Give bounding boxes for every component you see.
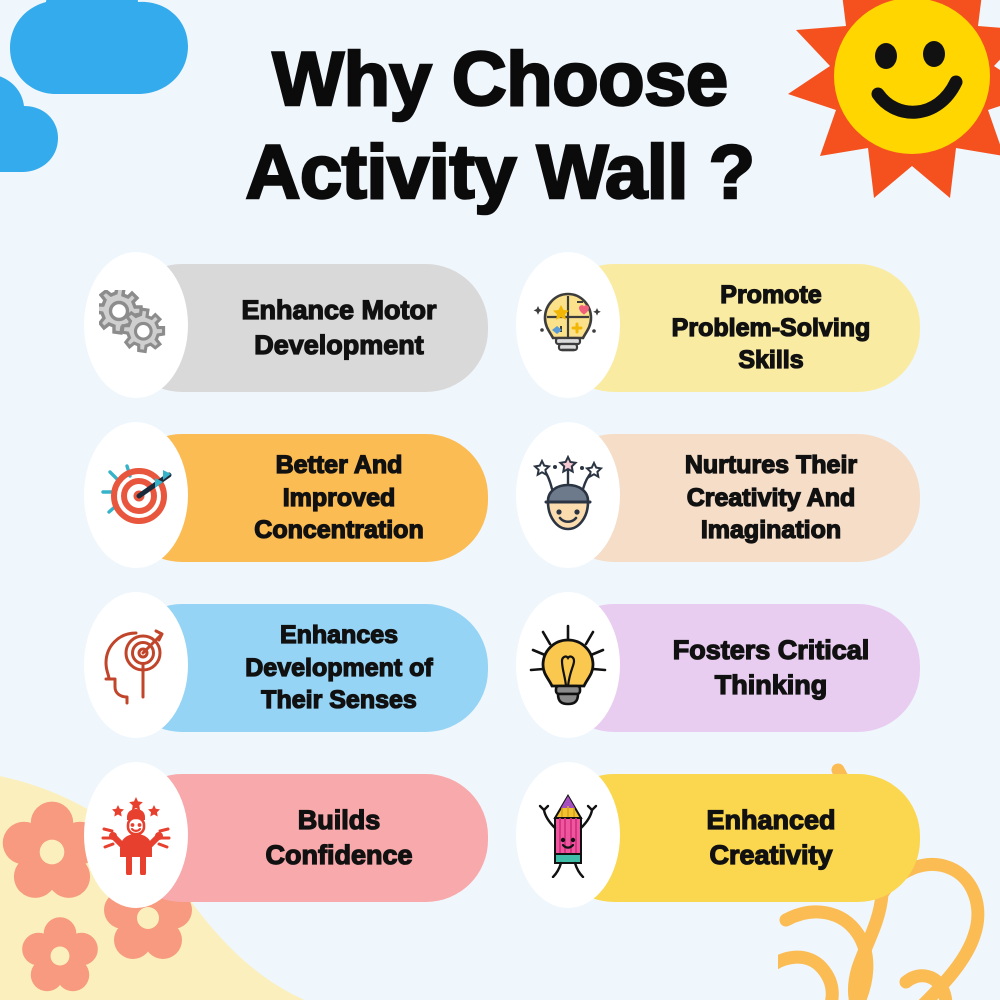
icon-badge <box>84 762 188 908</box>
head-stars-icon <box>528 455 608 535</box>
icon-badge <box>516 252 620 398</box>
benefit-label: Fosters Critical Thinking <box>673 633 870 703</box>
lightbulb-glow-icon <box>529 624 607 706</box>
head-target-icon <box>98 625 174 705</box>
lightbulb-puzzle-icon <box>531 286 605 364</box>
title-line-1: Why Choose <box>0 34 1000 127</box>
benefit-label: Better And Improved Concentration <box>254 449 423 547</box>
benefit-card-builds-confidence[interactable]: Builds Confidence <box>84 768 488 908</box>
benefit-label: Promote Problem-Solving Skills <box>672 279 871 377</box>
benefit-label: Builds Confidence <box>265 803 412 873</box>
benefit-label: Nurtures Their Creativity And Imaginatio… <box>685 449 857 547</box>
benefit-card-enhance-motor-development[interactable]: Enhance Motor Development <box>84 258 488 398</box>
benefit-card-enhanced-creativity[interactable]: Enhanced Creativity <box>516 768 920 908</box>
benefit-card-promote-problem-solving-skills[interactable]: Promote Problem-Solving Skills <box>516 258 920 398</box>
gears-icon <box>99 290 173 360</box>
icon-badge <box>516 592 620 738</box>
benefit-card-enhances-development-of-their-senses[interactable]: Enhances Development of Their Senses <box>84 598 488 738</box>
benefit-card-nurtures-their-creativity-and-imagination[interactable]: Nurtures Their Creativity And Imaginatio… <box>516 428 920 568</box>
target-arrow-icon <box>97 458 175 532</box>
icon-badge <box>516 422 620 568</box>
icon-badge <box>84 252 188 398</box>
pencil-character-icon <box>531 792 605 878</box>
benefit-label: Enhance Motor Development <box>241 293 436 363</box>
icon-badge <box>516 762 620 908</box>
benefit-label: Enhances Development of Their Senses <box>245 619 433 717</box>
benefit-card-grid: Enhance Motor Development <box>84 258 920 896</box>
icon-badge <box>84 422 188 568</box>
benefit-label: Enhanced Creativity <box>706 803 835 873</box>
benefit-card-better-and-improved-concentration[interactable]: Better And Improved Concentration <box>84 428 488 568</box>
confident-child-icon <box>96 795 176 875</box>
benefit-card-fosters-critical-thinking[interactable]: Fosters Critical Thinking <box>516 598 920 738</box>
icon-badge <box>84 592 188 738</box>
page-title: Why Choose Activity Wall ? <box>0 34 1000 219</box>
poster-canvas: Why Choose Activity Wall ? Enhance Motor… <box>0 0 1000 1000</box>
title-line-2: Activity Wall ? <box>0 127 1000 220</box>
